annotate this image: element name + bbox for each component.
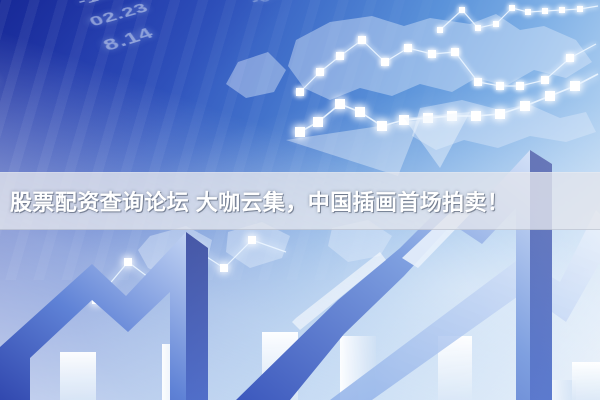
headline-band: 股票配资查询论坛 大咖云集，中国插画首场拍卖！ xyxy=(0,172,600,230)
triangle-wedge xyxy=(286,112,470,176)
banner-image: -0.36 1.25 -50.02 -02.36 21.05 -11.25 4.… xyxy=(0,0,600,400)
headline-text: 股票配资查询论坛 大咖云集，中国插画首场拍卖！ xyxy=(10,185,509,217)
